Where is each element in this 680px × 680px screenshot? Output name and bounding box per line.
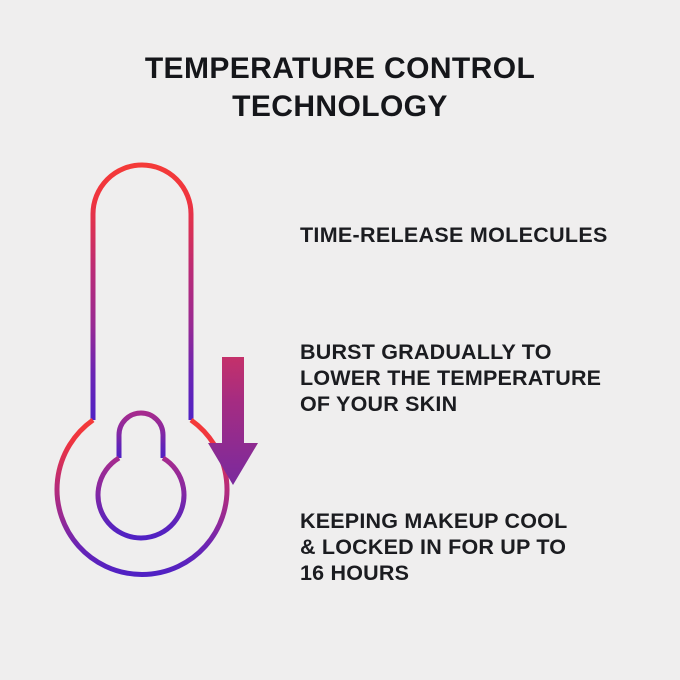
feature-2-line-1: BURST GRADUALLY TO xyxy=(300,339,601,365)
thermometer-outline xyxy=(57,165,227,574)
down-arrow-icon xyxy=(208,357,258,485)
feature-3-line-1: KEEPING MAKEUP COOL xyxy=(300,508,567,534)
page-title-line-2: TECHNOLOGY xyxy=(0,88,680,126)
mercury-tube-outline xyxy=(119,413,163,458)
thermometer-bulb-outline xyxy=(57,420,227,574)
feature-text-block-2: BURST GRADUALLY TO LOWER THE TEMPERATURE… xyxy=(300,339,601,417)
thermometer-tube-outline xyxy=(93,165,191,420)
feature-3-line-3: 16 HOURS xyxy=(300,560,567,586)
thermometer-graphic xyxy=(38,158,278,668)
feature-1-line-1: TIME-RELEASE MOLECULES xyxy=(300,222,608,248)
feature-2-line-3: OF YOUR SKIN xyxy=(300,391,601,417)
page-title: TEMPERATURE CONTROL TECHNOLOGY xyxy=(0,50,680,126)
feature-text-block-1: TIME-RELEASE MOLECULES xyxy=(300,222,608,248)
feature-3-line-2: & LOCKED IN FOR UP TO xyxy=(300,534,567,560)
page-title-line-1: TEMPERATURE CONTROL xyxy=(0,50,680,88)
feature-2-line-2: LOWER THE TEMPERATURE xyxy=(300,365,601,391)
thermometer-mercury-outline xyxy=(98,413,184,538)
mercury-bulb-outline xyxy=(98,458,184,538)
thermometer-svg xyxy=(38,158,278,668)
feature-text-block-3: KEEPING MAKEUP COOL & LOCKED IN FOR UP T… xyxy=(300,508,567,586)
infographic-canvas: TEMPERATURE CONTROL TECHNOLOGY xyxy=(0,0,680,680)
